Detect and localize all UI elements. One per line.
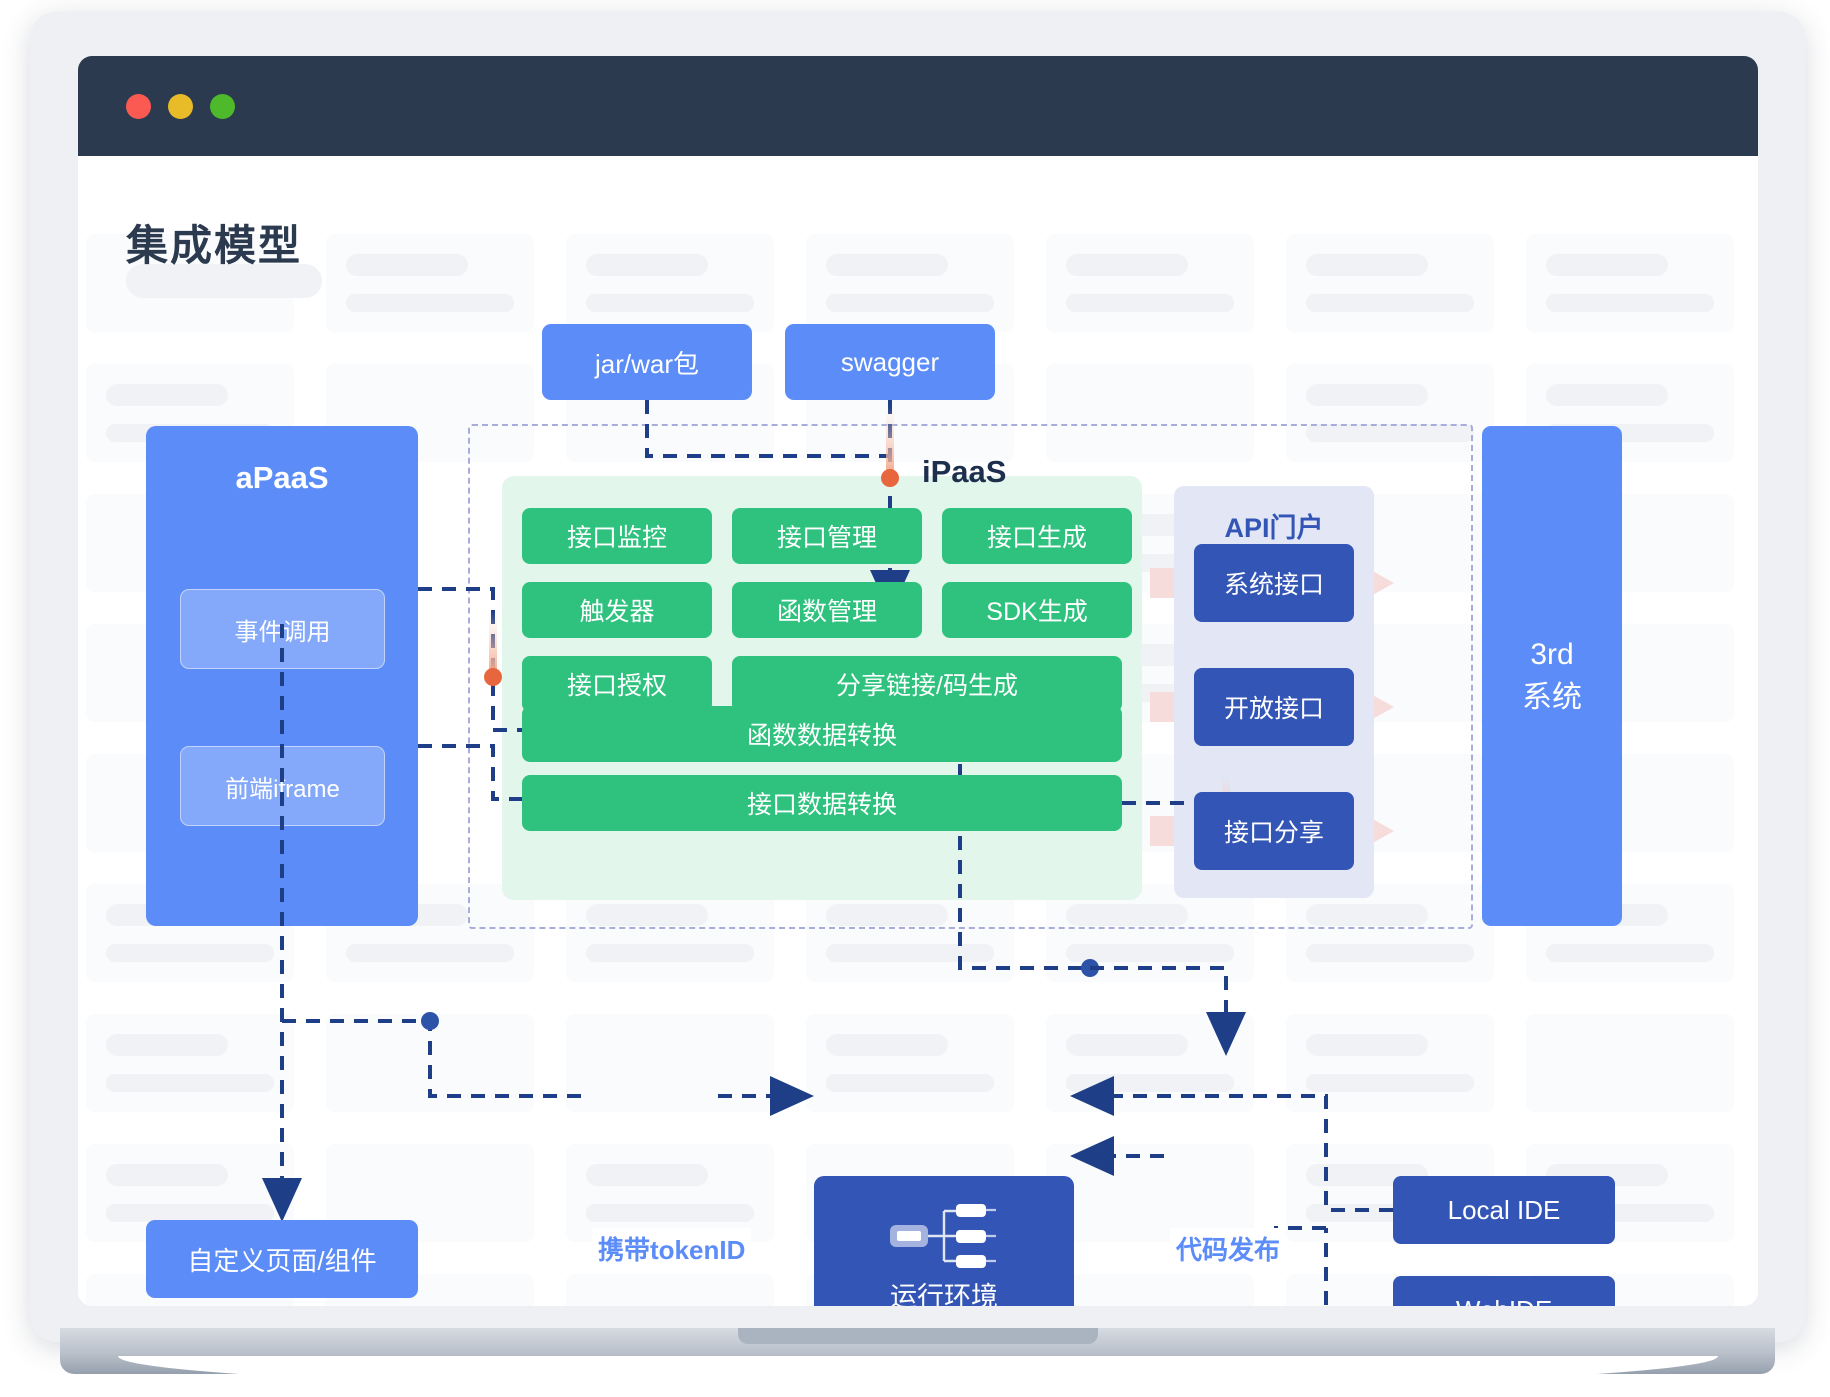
skeleton-card (1286, 234, 1494, 332)
skeleton-bar (826, 944, 994, 962)
skeleton-card (1526, 1014, 1734, 1112)
skeleton-bar (586, 294, 754, 312)
api-node-interface-share[interactable]: 接口分享 (1194, 792, 1354, 870)
maximize-icon[interactable] (210, 94, 235, 119)
node-custom-page-component[interactable]: 自定义页面/组件 (146, 1220, 418, 1298)
close-icon[interactable] (126, 94, 151, 119)
ipaas-title: iPaaS (922, 454, 1006, 490)
skeleton-card (326, 234, 534, 332)
third-party-line2: 系统 (1522, 676, 1582, 720)
browser-window: 集成模型 iPaaS API门户 (78, 56, 1758, 1306)
runtime-label: 运行环境 (890, 1275, 998, 1307)
diagram-canvas: 集成模型 iPaaS API门户 (78, 156, 1758, 1306)
skeleton-bar (1546, 254, 1668, 276)
skeleton-bar (1546, 294, 1714, 312)
third-party-line1: 3rd (1530, 633, 1573, 677)
cap-interface-management[interactable]: 接口管理 (732, 508, 922, 564)
cap-share-link-code-generation[interactable]: 分享链接/码生成 (732, 656, 1122, 712)
skeleton-bar (106, 384, 228, 406)
skeleton-bar (826, 1034, 948, 1056)
skeleton-bar (106, 1074, 274, 1092)
skeleton-bar (1306, 944, 1474, 962)
cap-interface-monitor[interactable]: 接口监控 (522, 508, 712, 564)
skeleton-card (566, 1014, 774, 1112)
skeleton-card (1046, 1274, 1254, 1306)
skeleton-card (566, 1274, 774, 1306)
laptop-base-curve (118, 1356, 1718, 1390)
skeleton-bar (1306, 294, 1474, 312)
skeleton-bar (1066, 1074, 1234, 1092)
apaas-title: aPaaS (146, 460, 418, 496)
skeleton-bar (1306, 384, 1428, 406)
skeleton-bar (1306, 1034, 1428, 1056)
apaas-item-event-call[interactable]: 事件调用 (180, 589, 385, 669)
skeleton-bar (826, 1074, 994, 1092)
laptop-frame: 集成模型 iPaaS API门户 (30, 12, 1805, 1342)
skeleton-bar (346, 254, 468, 276)
cap-function-management[interactable]: 函数管理 (732, 582, 922, 638)
cap-sdk-generation[interactable]: SDK生成 (942, 582, 1132, 638)
skeleton-bar (346, 294, 514, 312)
skeleton-bar (826, 254, 948, 276)
skeleton-bar (586, 1204, 754, 1222)
cap-interface-data-transform[interactable]: 接口数据转换 (522, 775, 1122, 831)
api-node-open-interface[interactable]: 开放接口 (1194, 668, 1354, 746)
browser-titlebar (78, 56, 1758, 156)
skeleton-bar (1546, 384, 1668, 406)
skeleton-bar (106, 1164, 228, 1186)
cap-trigger[interactable]: 触发器 (522, 582, 712, 638)
minimize-icon[interactable] (168, 94, 193, 119)
skeleton-bar (826, 294, 994, 312)
skeleton-bar (346, 944, 514, 962)
laptop-base-notch (738, 1328, 1098, 1344)
node-runtime-environment[interactable]: 运行环境 (814, 1176, 1074, 1306)
tree-hierarchy-icon (884, 1199, 1004, 1273)
skeleton-bar (1066, 254, 1188, 276)
node-jar-war[interactable]: jar/war包 (542, 324, 752, 400)
skeleton-bar (1066, 1034, 1188, 1056)
skeleton-bar (586, 1164, 708, 1186)
skeleton-card (1526, 234, 1734, 332)
page-title: 集成模型 (126, 212, 302, 273)
edge-label-token: 携带tokenID (592, 1228, 751, 1269)
skeleton-card (566, 234, 774, 332)
node-web-ide[interactable]: WebIDE (1393, 1276, 1615, 1306)
skeleton-bar (1066, 944, 1234, 962)
skeleton-bar (106, 944, 274, 962)
apaas-item-frontend-iframe[interactable]: 前端iframe (180, 746, 385, 826)
skeleton-bar (586, 944, 754, 962)
node-local-ide[interactable]: Local IDE (1393, 1176, 1615, 1244)
skeleton-card (1046, 1014, 1254, 1112)
cap-function-data-transform[interactable]: 函数数据转换 (522, 706, 1122, 762)
skeleton-card (806, 1014, 1014, 1112)
cap-interface-generation[interactable]: 接口生成 (942, 508, 1132, 564)
edge-label-deploy: 代码发布 (1170, 1228, 1286, 1269)
skeleton-bar (1306, 254, 1428, 276)
skeleton-bar (106, 1034, 228, 1056)
skeleton-card (1286, 1014, 1494, 1112)
skeleton-bar (1066, 294, 1234, 312)
skeleton-card (326, 1014, 534, 1112)
skeleton-bar (1546, 944, 1714, 962)
node-swagger[interactable]: swagger (785, 324, 995, 400)
skeleton-bar (586, 254, 708, 276)
api-node-system-interface[interactable]: 系统接口 (1194, 544, 1354, 622)
cap-interface-authorization[interactable]: 接口授权 (522, 656, 712, 712)
node-third-party-system[interactable]: 3rd 系统 (1482, 426, 1622, 926)
api-portal-title: API门户 (1174, 506, 1374, 545)
skeleton-bar (1306, 1074, 1474, 1092)
skeleton-card (806, 234, 1014, 332)
skeleton-card (86, 1014, 294, 1112)
apaas-panel: aPaaS 事件调用 前端iframe (146, 426, 418, 926)
skeleton-card (1046, 234, 1254, 332)
